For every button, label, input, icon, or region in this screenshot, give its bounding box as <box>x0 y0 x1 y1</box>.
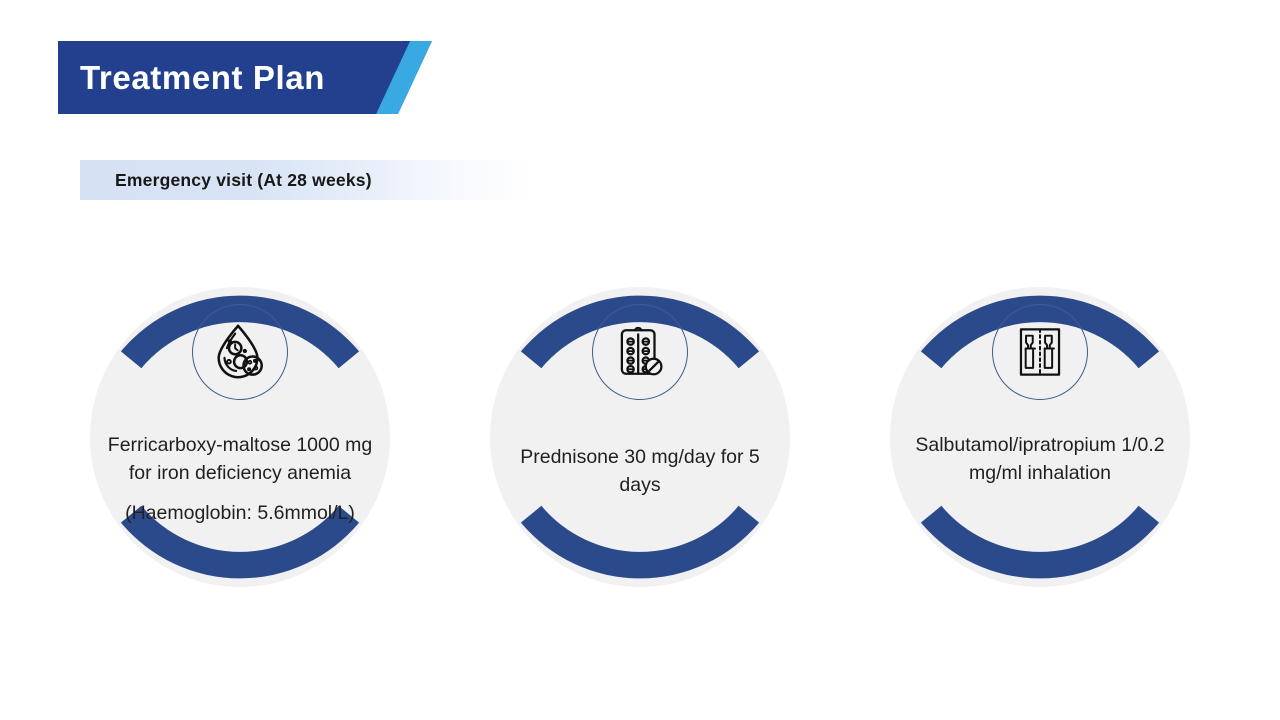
card-body-text: Prednisone 30 mg/day for 5 days <box>497 444 783 499</box>
ampoule-vials-icon <box>1011 323 1069 381</box>
blood-drop-cells-icon <box>209 321 271 383</box>
treatment-card-prednisone[interactable]: Prednisone 30 mg/day for 5 days <box>475 252 805 622</box>
icon-ring <box>192 304 288 400</box>
subtitle-bar: Emergency visit (At 28 weeks) <box>80 160 535 200</box>
slide-canvas: Treatment Plan Emergency visit (At 28 we… <box>0 0 1280 720</box>
icon-ring <box>592 304 688 400</box>
treatment-cards-row: Ferricarboxy-maltose 1000 mg for iron de… <box>0 252 1280 622</box>
icon-ring <box>992 304 1088 400</box>
title-banner: Treatment Plan <box>58 41 432 114</box>
page-title: Treatment Plan <box>80 41 325 114</box>
card-line: Prednisone 30 mg/day for 5 days <box>497 444 783 499</box>
card-line: Ferricarboxy-maltose 1000 mg for iron de… <box>97 432 383 487</box>
card-body-text: Salbutamol/ipratropium 1/0.2 mg/ml inhal… <box>897 432 1183 487</box>
subtitle-label: Emergency visit (At 28 weeks) <box>115 160 372 200</box>
card-body-text: Ferricarboxy-maltose 1000 mg for iron de… <box>97 432 383 528</box>
card-line: Salbutamol/ipratropium 1/0.2 mg/ml inhal… <box>897 432 1183 487</box>
card-line: (Haemoglobin: 5.6mmol/L) <box>97 500 383 528</box>
pill-blister-pack-icon <box>611 323 669 381</box>
treatment-card-iron[interactable]: Ferricarboxy-maltose 1000 mg for iron de… <box>75 252 405 622</box>
treatment-card-salbutamol[interactable]: Salbutamol/ipratropium 1/0.2 mg/ml inhal… <box>875 252 1205 622</box>
